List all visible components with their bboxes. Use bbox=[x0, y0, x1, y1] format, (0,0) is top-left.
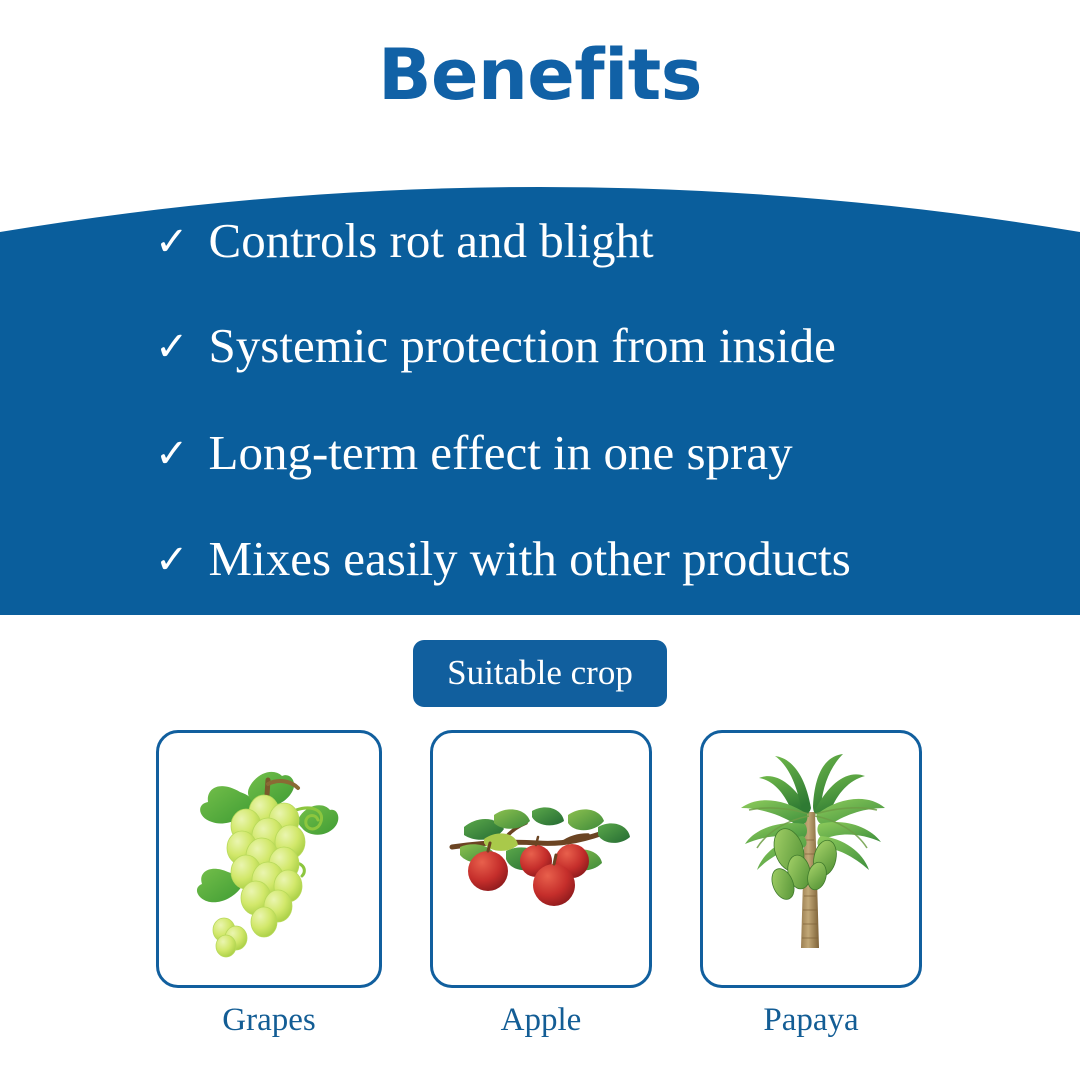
benefits-poster: Benefits ✓ Controls rot and blight ✓ Sys… bbox=[0, 0, 1080, 1080]
benefit-text: Long-term effect in one spray bbox=[209, 427, 793, 478]
crop-item-grapes: Grapes bbox=[156, 730, 382, 1038]
crop-label: Papaya bbox=[700, 1002, 922, 1038]
benefit-item: ✓ Controls rot and blight bbox=[155, 215, 654, 266]
benefits-list: ✓ Controls rot and blight ✓ Systemic pro… bbox=[0, 160, 1080, 615]
benefit-text: Systemic protection from inside bbox=[209, 320, 836, 371]
papaya-tree-icon bbox=[721, 752, 901, 967]
crop-card bbox=[156, 730, 382, 988]
check-icon: ✓ bbox=[155, 434, 189, 474]
crop-card-list: Grapes bbox=[0, 730, 1080, 1070]
benefit-item: ✓ Long-term effect in one spray bbox=[155, 427, 793, 478]
apple-branch-icon bbox=[446, 799, 636, 919]
crop-label: Grapes bbox=[156, 1002, 382, 1038]
suitable-crop-badge: Suitable crop bbox=[413, 640, 667, 707]
benefit-item: ✓ Mixes easily with other products bbox=[155, 533, 851, 584]
benefit-text: Mixes easily with other products bbox=[209, 533, 851, 584]
check-icon: ✓ bbox=[155, 222, 189, 262]
crop-card bbox=[430, 730, 652, 988]
crop-item-apple: Apple bbox=[430, 730, 652, 1038]
check-icon: ✓ bbox=[155, 540, 189, 580]
benefits-banner: ✓ Controls rot and blight ✓ Systemic pro… bbox=[0, 160, 1080, 615]
crop-card bbox=[700, 730, 922, 988]
crop-item-papaya: Papaya bbox=[700, 730, 922, 1038]
title-area: Benefits bbox=[0, 40, 1080, 110]
green-grapes-bunch-icon bbox=[184, 752, 354, 967]
benefit-item: ✓ Systemic protection from inside bbox=[155, 320, 836, 371]
crop-label: Apple bbox=[430, 1002, 652, 1038]
check-icon: ✓ bbox=[155, 327, 189, 367]
page-title: Benefits bbox=[378, 40, 702, 110]
benefit-text: Controls rot and blight bbox=[209, 215, 654, 266]
suitable-crop-badge-row: Suitable crop bbox=[0, 640, 1080, 707]
